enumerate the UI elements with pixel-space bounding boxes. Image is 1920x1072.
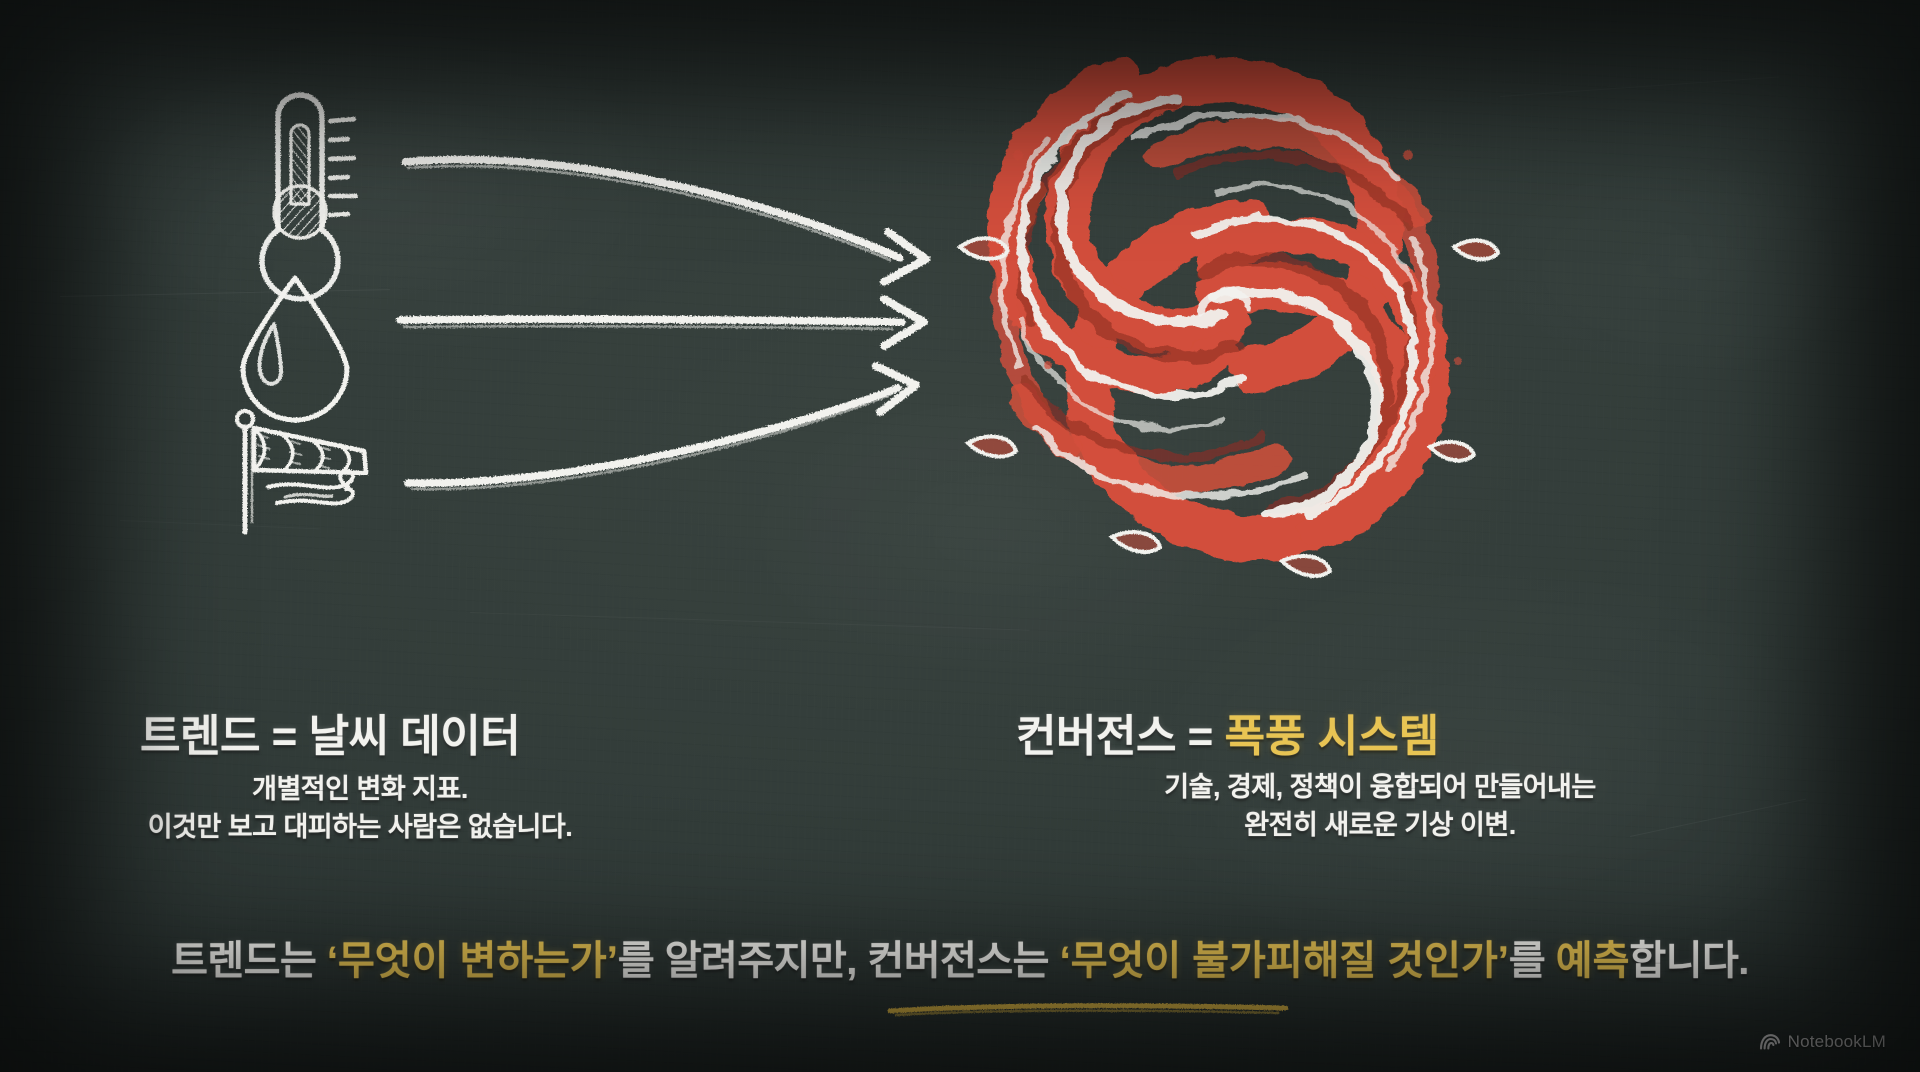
- bottom-banner: 트렌드는 ‘무엇이 변하는가’를 알려주지만, 컨버전스는 ‘무엇이 불가피해질…: [0, 928, 1920, 986]
- board-scratch: [1500, 76, 1779, 97]
- board-scratch: [60, 289, 390, 297]
- board-grain: [0, 0, 1920, 1072]
- right-subcaption-line-2: 완전히 새로운 기상 이변.: [1000, 806, 1760, 844]
- left-subcaption-line-2: 이것만 보고 대피하는 사람은 없습니다.: [0, 808, 720, 846]
- chalk-artwork: [0, 0, 1920, 1072]
- chalkboard-canvas: 트렌드 = 날씨 데이터 개별적인 변화 지표. 이것만 보고 대피하는 사람은…: [0, 0, 1920, 1072]
- board-scratch: [120, 520, 320, 529]
- board-vignette: [0, 0, 1920, 1072]
- windsock-icon: [237, 411, 366, 532]
- right-subcaption: 기술, 경제, 정책이 융합되어 만들어내는 완전히 새로운 기상 이변.: [1000, 768, 1760, 845]
- banner-seg-7: 합니다.: [1629, 939, 1749, 983]
- notebooklm-icon: [1759, 1033, 1781, 1051]
- hurricane-storm-icon: [960, 77, 1498, 576]
- banner-quote-2: ‘무엇이 불가피해질 것인가’: [1060, 939, 1509, 983]
- convergence-arrows: [400, 160, 926, 490]
- thermometer-icon: [262, 95, 356, 299]
- watermark: NotebookLM: [1759, 1032, 1886, 1052]
- water-drop-icon: [243, 278, 347, 420]
- banner-quote-1: ‘무엇이 변하는가’: [327, 939, 618, 983]
- watermark-label: NotebookLM: [1788, 1032, 1886, 1052]
- right-heading-plain: 컨버전스 =: [1016, 712, 1225, 761]
- right-heading: 컨버전스 = 폭풍 시스템: [1016, 700, 1439, 764]
- right-subcaption-line-1: 기술, 경제, 정책이 융합되어 만들어내는: [1000, 768, 1760, 806]
- board-chalk-dust: [0, 0, 1920, 1072]
- banner-underline: [886, 1002, 1290, 1018]
- banner-seg-3: 를 알려주지만, 컨버전스는: [618, 939, 1060, 983]
- left-subcaption: 개별적인 변화 지표. 이것만 보고 대피하는 사람은 없습니다.: [0, 770, 720, 847]
- banner-seg-5: 를: [1509, 939, 1556, 983]
- banner-seg-1: 트렌드는: [171, 939, 327, 983]
- right-heading-gold: 폭풍 시스템: [1225, 712, 1440, 761]
- left-subcaption-line-1: 개별적인 변화 지표.: [0, 770, 720, 808]
- banner-emphasis: 예측: [1556, 939, 1630, 983]
- left-heading: 트렌드 = 날씨 데이터: [140, 700, 520, 764]
- board-scratch: [470, 612, 1030, 631]
